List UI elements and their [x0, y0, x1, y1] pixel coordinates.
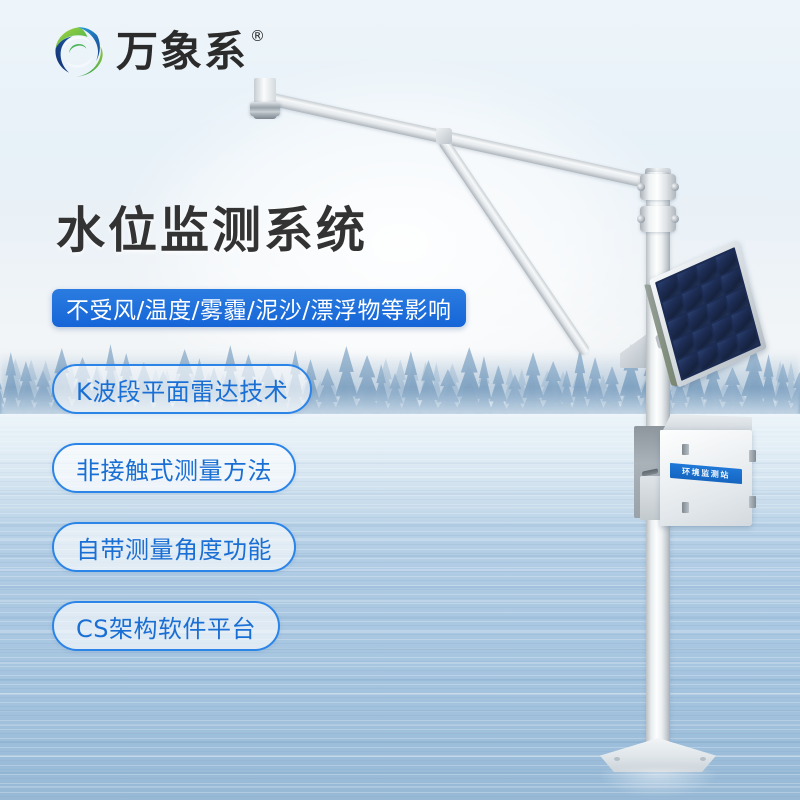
brand-name-text: 万象系 [116, 27, 248, 76]
base-plate-icon [600, 738, 716, 772]
enclosure-hinge [682, 444, 689, 455]
enclosure-label: 环境监测站 [670, 463, 742, 484]
subtitle-banner: 不受风/温度/雾霾/泥沙/漂浮物等影响 [52, 289, 466, 327]
base-bolt [614, 757, 620, 761]
feature-item-label: K波段平面雷达技术 [76, 372, 288, 407]
enclosure-latch [749, 496, 756, 508]
product-poster: 环境监测站 [0, 0, 800, 800]
enclosure-label-text: 环境监测站 [682, 466, 730, 481]
enclosure-hinge [682, 502, 689, 513]
strut-top-joint [436, 128, 452, 144]
control-enclosure: 环境监测站 [634, 414, 752, 526]
mast-collar-upper [640, 174, 676, 200]
page-title: 水位监测系统 [56, 206, 368, 255]
feature-list: K波段平面雷达技术非接触式测量方法自带测量角度功能CS架构软件平台 [52, 364, 312, 651]
collar-bolt [671, 183, 679, 191]
brand-lockup: 万象系 ® [50, 24, 248, 80]
feature-item-label: 自带测量角度功能 [76, 530, 272, 565]
collar-bolt [637, 215, 645, 223]
brand-name: 万象系 ® [116, 31, 248, 73]
collar-bolt [671, 215, 679, 223]
radar-sensor-icon [250, 102, 280, 116]
trademark-symbol: ® [250, 29, 267, 44]
enclosure-latch [749, 450, 756, 462]
feature-item-3[interactable]: 自带测量角度功能 [52, 522, 296, 572]
feature-item-label: 非接触式测量方法 [76, 451, 272, 486]
subtitle-banner-text: 不受风/温度/雾霾/泥沙/漂浮物等影响 [66, 291, 452, 325]
feature-item-label: CS架构软件平台 [76, 609, 256, 644]
feature-item-1[interactable]: K波段平面雷达技术 [52, 364, 312, 414]
solar-cell-grid [655, 247, 761, 381]
rig-water-reflection [596, 770, 720, 798]
globe-swirl-logo-icon [50, 24, 106, 80]
base-bolt [700, 757, 706, 761]
mast-collar-lower [640, 206, 676, 232]
feature-item-2[interactable]: 非接触式测量方法 [52, 443, 296, 493]
collar-bolt [637, 183, 645, 191]
feature-item-4[interactable]: CS架构软件平台 [52, 601, 280, 651]
enclosure-door: 环境监测站 [660, 430, 752, 526]
